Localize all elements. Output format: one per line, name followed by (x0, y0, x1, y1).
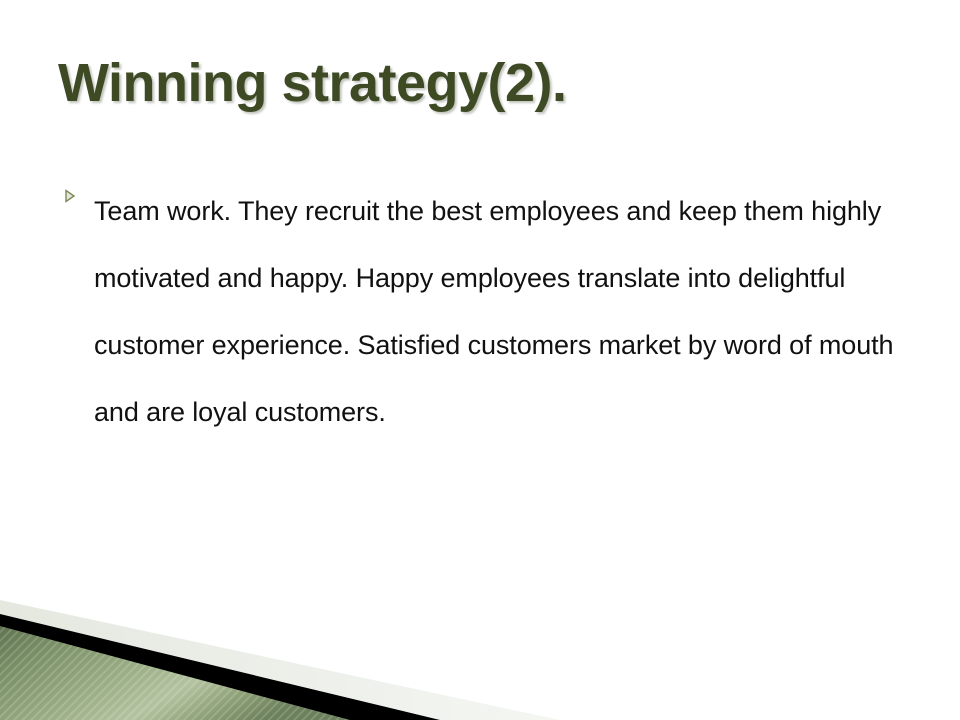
page-title: Winning strategy(2). (58, 52, 898, 114)
decoration-green-wedge (0, 626, 350, 720)
decoration-gray-band (0, 600, 560, 720)
body-content: Team work. They recruit the best employe… (62, 178, 902, 446)
list-item: Team work. They recruit the best employe… (62, 178, 902, 446)
list-item-text: Team work. They recruit the best employe… (94, 178, 902, 446)
decoration-green-hatch-overlay (0, 626, 350, 720)
slide-canvas: Winning strategy(2). Team work. They rec… (0, 0, 960, 720)
bottom-left-angled-banner (0, 580, 960, 720)
decoration-black-band (0, 614, 440, 720)
triangle-bullet-icon (62, 178, 94, 204)
